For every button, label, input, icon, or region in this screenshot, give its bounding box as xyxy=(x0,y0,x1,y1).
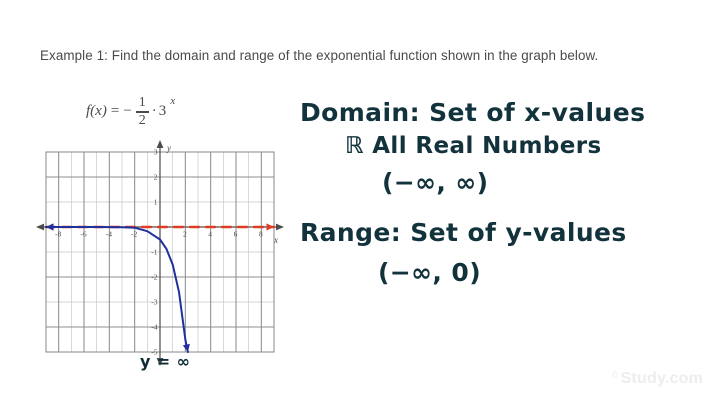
x-axis-label: x xyxy=(273,235,278,245)
copyright-icon: © xyxy=(612,370,619,380)
handwritten-domain-heading: Domain: Set of x-values xyxy=(300,98,645,127)
series-arrowhead xyxy=(183,344,190,352)
y-tick-1: 1 xyxy=(154,198,158,207)
handwritten-domain-real-numbers: ℝ All Real Numbers xyxy=(345,133,602,159)
y-tick-2: 2 xyxy=(154,173,158,182)
series-path-0 xyxy=(46,227,188,352)
equation-equals-sign: = xyxy=(111,103,119,120)
fraction-numerator: 1 xyxy=(137,96,148,110)
x-tick--2: -2 xyxy=(131,230,137,239)
handwritten-range-interval: (−∞, 0) xyxy=(378,258,481,287)
x-tick-4: 4 xyxy=(208,230,212,239)
coordinate-graph: -8-6-4-22468321-1-2-3-4-5 y x xyxy=(36,138,284,378)
y-tick--4: -4 xyxy=(151,323,157,332)
y-tick--1: -1 xyxy=(151,248,157,257)
equation-minus-sign: − xyxy=(123,103,131,120)
y-tick--2: -2 xyxy=(151,273,157,282)
axes xyxy=(36,140,284,366)
equation-exponent: x xyxy=(170,95,175,107)
problem-prompt: Example 1: Find the domain and range of … xyxy=(40,46,640,66)
study-com-watermark: © Study.com xyxy=(612,370,703,388)
y-tick--3: -3 xyxy=(151,298,157,307)
x-tick-6: 6 xyxy=(234,230,238,239)
equation-lhs: f(x) xyxy=(86,103,107,120)
x-tick-2: 2 xyxy=(183,230,187,239)
graph-svg: -8-6-4-22468321-1-2-3-4-5 y x xyxy=(36,138,284,378)
x-tick--6: -6 xyxy=(80,230,86,239)
series-arrowhead xyxy=(46,223,54,230)
watermark-text: Study.com xyxy=(621,370,703,388)
fraction-denominator: 2 xyxy=(137,114,148,128)
y-tick-3: 3 xyxy=(154,148,158,157)
handwritten-domain-interval: (−∞, ∞) xyxy=(382,168,488,197)
function-equation: f(x) = − 1 2 · 3 x xyxy=(86,96,175,128)
equation-fraction: 1 2 xyxy=(136,96,149,128)
handwritten-range-heading: Range: Set of y-values xyxy=(300,218,627,247)
x-tick--8: -8 xyxy=(55,230,61,239)
exponential-curve xyxy=(46,223,190,352)
series-arrowhead xyxy=(267,223,275,230)
x-tick--4: -4 xyxy=(106,230,112,239)
x-tick-8: 8 xyxy=(259,230,263,239)
y-axis-label: y xyxy=(166,143,171,153)
equation-base: 3 xyxy=(159,103,167,120)
handwritten-asymptote-label: y = ∞ xyxy=(140,352,190,371)
equation-multiply-dot: · xyxy=(152,103,157,120)
